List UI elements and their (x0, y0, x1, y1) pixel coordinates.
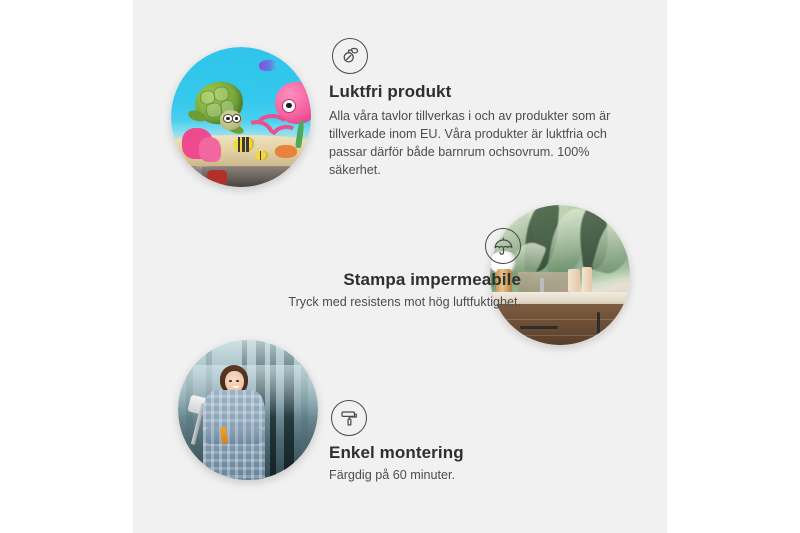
product-photo-underwater[interactable] (171, 47, 311, 187)
yellow-fish (233, 137, 254, 152)
painter-crossed-arms (203, 427, 265, 444)
yellow-fish-small (255, 151, 268, 161)
product-feature-panel: Luktfri produkt Alla våra tavlor tillver… (133, 0, 667, 533)
feature-waterproof: Stampa impermeabile Tryck med resistens … (213, 228, 521, 312)
feature-title: Luktfri produkt (329, 82, 621, 102)
paint-roller-icon (331, 400, 367, 436)
feature-mounting: Enkel montering Färgdig på 60 minuter. (329, 400, 609, 485)
product-photo-painter[interactable] (178, 340, 318, 480)
feature-description: Tryck med resistens mot hög luftfuktighe… (213, 294, 521, 312)
coral (199, 137, 221, 162)
feature-description: Färgdig på 60 minuter. (329, 467, 609, 485)
umbrella-icon (485, 228, 521, 264)
underwater-scene (171, 47, 311, 187)
blue-fish (259, 60, 277, 71)
starfish (275, 145, 297, 158)
toiletry-bottle (568, 269, 579, 291)
feature-title: Stampa impermeabile (213, 270, 521, 290)
feature-title: Enkel montering (329, 443, 609, 463)
reef-red-rock (207, 170, 227, 184)
feature-odourless: Luktfri produkt Alla våra tavlor tillver… (329, 38, 621, 180)
painter-scene (178, 340, 318, 480)
screenshot-root: Luktfri produkt Alla våra tavlor tillver… (0, 0, 800, 533)
no-fragrance-icon (332, 38, 368, 74)
feature-description: Alla våra tavlor tillverkas i och av pro… (329, 108, 621, 180)
toiletry-bottle (582, 267, 592, 292)
